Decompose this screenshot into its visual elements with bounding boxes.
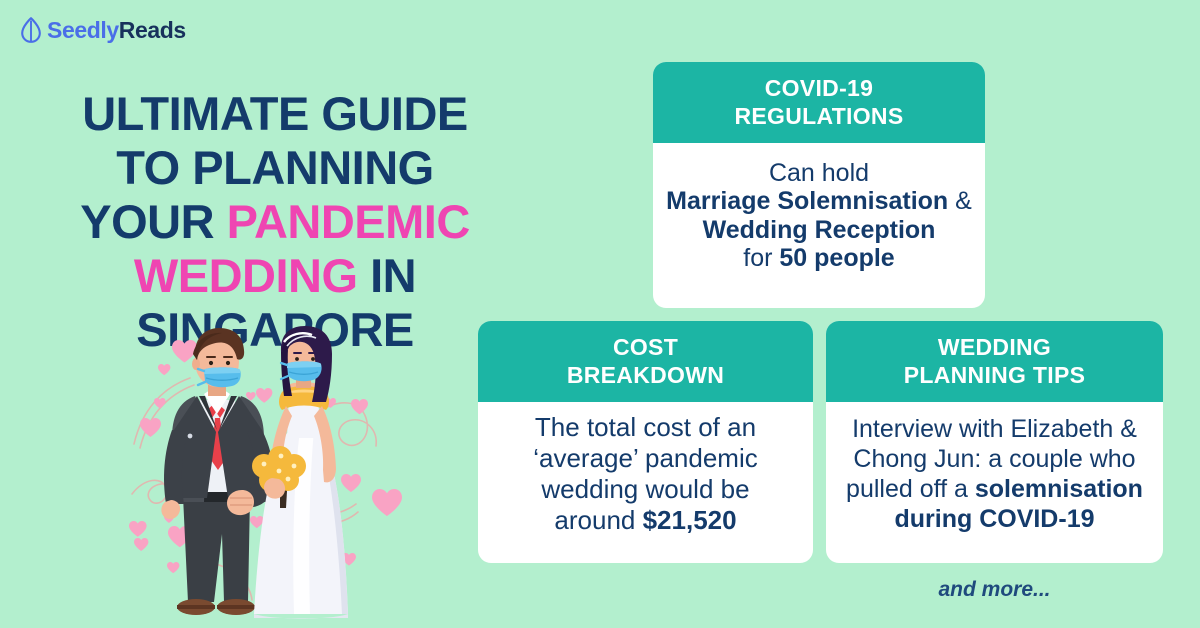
covid-body-line-1: Can hold [769, 159, 869, 187]
tips-body-line-3-bold: solemnisation [975, 475, 1143, 503]
poster-canvas: SeedlyReads ULTIMATE GUIDE TO PLANNING Y… [0, 0, 1200, 628]
card-tips-title-line-2: PLANNING TIPS [836, 361, 1153, 389]
headline-line-2: TO PLANNING [70, 141, 480, 195]
tips-body-line-2: Chong Jun: a couple who [853, 445, 1135, 473]
card-cost-breakdown[interactable]: COST BREAKDOWN The total cost of an ‘ave… [478, 321, 813, 563]
card-covid-header: COVID-19 REGULATIONS [653, 62, 985, 143]
cost-body-line-1: The total cost of an [535, 412, 756, 442]
seedly-reads-logo[interactable]: SeedlyReads [18, 14, 186, 46]
covid-body-line-3-bold: Wedding Reception [703, 216, 936, 244]
masked-wedding-couple-illustration [104, 326, 444, 628]
covid-body-line-2-bold: Marriage Solemnisation [666, 187, 948, 215]
headline-line-3-accent: PANDEMIC [227, 195, 470, 248]
headline-line-4-accent: WEDDING [134, 249, 358, 302]
card-covid-regulations[interactable]: COVID-19 REGULATIONS Can hold Marriage S… [653, 62, 985, 308]
card-cost-title-line-1: COST [488, 333, 803, 361]
headline-line-3-plain: YOUR [80, 195, 226, 248]
tips-body-line-3-lead: pulled off a [846, 475, 975, 503]
card-cost-header: COST BREAKDOWN [478, 321, 813, 402]
covid-body-line-4-bold: 50 people [779, 244, 894, 272]
headline-line-3: YOUR PANDEMIC [70, 195, 480, 249]
card-covid-title-line-1: COVID-19 [663, 74, 975, 102]
logo-word-seedly: Seedly [47, 17, 119, 43]
page-title: ULTIMATE GUIDE TO PLANNING YOUR PANDEMIC… [70, 87, 480, 357]
card-cost-title-line-2: BREAKDOWN [488, 361, 803, 389]
logo-wordmark: SeedlyReads [47, 17, 186, 44]
cost-body-line-2: ‘average’ pandemic [533, 443, 758, 473]
leaf-droplet-icon [18, 16, 44, 44]
and-more-label: and more... [826, 578, 1163, 602]
covid-body-line-4-lead: for [743, 244, 779, 272]
card-tips-title-line-1: WEDDING [836, 333, 1153, 361]
logo-word-reads: Reads [119, 17, 186, 43]
headline-line-4: WEDDING IN [70, 249, 480, 303]
headline-line-1: ULTIMATE GUIDE [70, 87, 480, 141]
card-covid-title-line-2: REGULATIONS [663, 102, 975, 130]
cost-body-line-3: wedding would be [541, 474, 749, 504]
card-tips-header: WEDDING PLANNING TIPS [826, 321, 1163, 402]
card-covid-body: Can hold Marriage Solemnisation & Weddin… [653, 143, 985, 308]
tips-body-line-1: Interview with Elizabeth & [852, 415, 1137, 443]
headline-line-4-plain: IN [358, 249, 417, 302]
card-cost-body: The total cost of an ‘average’ pandemic … [478, 402, 813, 563]
cost-body-line-4-lead: around [554, 505, 642, 535]
bride-figure [252, 326, 348, 619]
cost-body-amount: $21,520 [643, 505, 737, 535]
card-tips-body: Interview with Elizabeth & Chong Jun: a … [826, 402, 1163, 563]
covid-body-line-2-tail: & [948, 187, 972, 215]
card-wedding-planning-tips[interactable]: WEDDING PLANNING TIPS Interview with Eli… [826, 321, 1163, 563]
tips-body-line-4-bold: during COVID-19 [894, 505, 1094, 533]
